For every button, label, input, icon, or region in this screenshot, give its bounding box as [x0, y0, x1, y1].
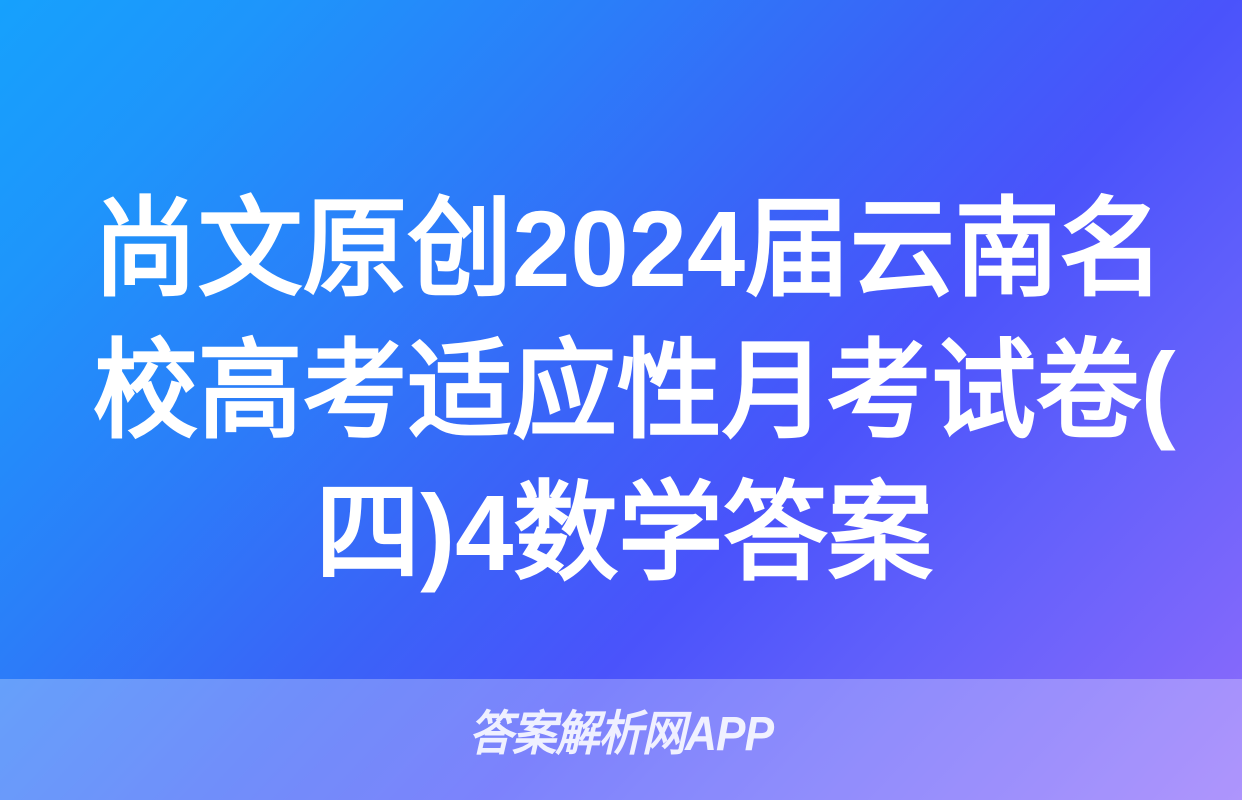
title-char: ( — [1141, 320, 1176, 462]
title-line-3: 四)4数学答案 — [109, 462, 1139, 604]
title-line-1: 尚 文 原 创 2 0 2 4 届 云 南 名 — [93, 178, 1123, 320]
title-char: 届 — [745, 178, 850, 320]
title-char: 尚 — [93, 178, 198, 320]
title-char: 卷 — [1036, 320, 1141, 462]
title-char: 文 — [198, 178, 303, 320]
title-char: 2 — [629, 178, 687, 320]
title-line-2: 校 高 考 适 应 性 月 考 试 卷 ( — [93, 320, 1123, 462]
title-char: 校 — [93, 320, 198, 462]
title-char: 4 — [687, 178, 745, 320]
title-char: 应 — [512, 320, 617, 462]
title-char: 创 — [407, 178, 512, 320]
title-char: 南 — [955, 178, 1060, 320]
watermark-text: 答案解析网APP — [50, 708, 1193, 762]
title-char: 试 — [931, 320, 1036, 462]
poster-title: 尚 文 原 创 2 0 2 4 届 云 南 名 校 高 考 适 应 性 月 考 … — [93, 178, 1155, 604]
title-char: 原 — [303, 178, 408, 320]
title-char: 云 — [850, 178, 955, 320]
title-char: 适 — [407, 320, 512, 462]
title-char: 考 — [826, 320, 931, 462]
title-char: 名 — [1060, 178, 1165, 320]
title-char: 高 — [198, 320, 303, 462]
title-char: 月 — [722, 320, 827, 462]
title-char: 考 — [303, 320, 408, 462]
title-char: 2 — [512, 178, 570, 320]
title-char: 性 — [617, 320, 722, 462]
title-char: 0 — [570, 178, 628, 320]
poster-canvas: 尚 文 原 创 2 0 2 4 届 云 南 名 校 高 考 适 应 性 月 考 … — [0, 0, 1242, 800]
